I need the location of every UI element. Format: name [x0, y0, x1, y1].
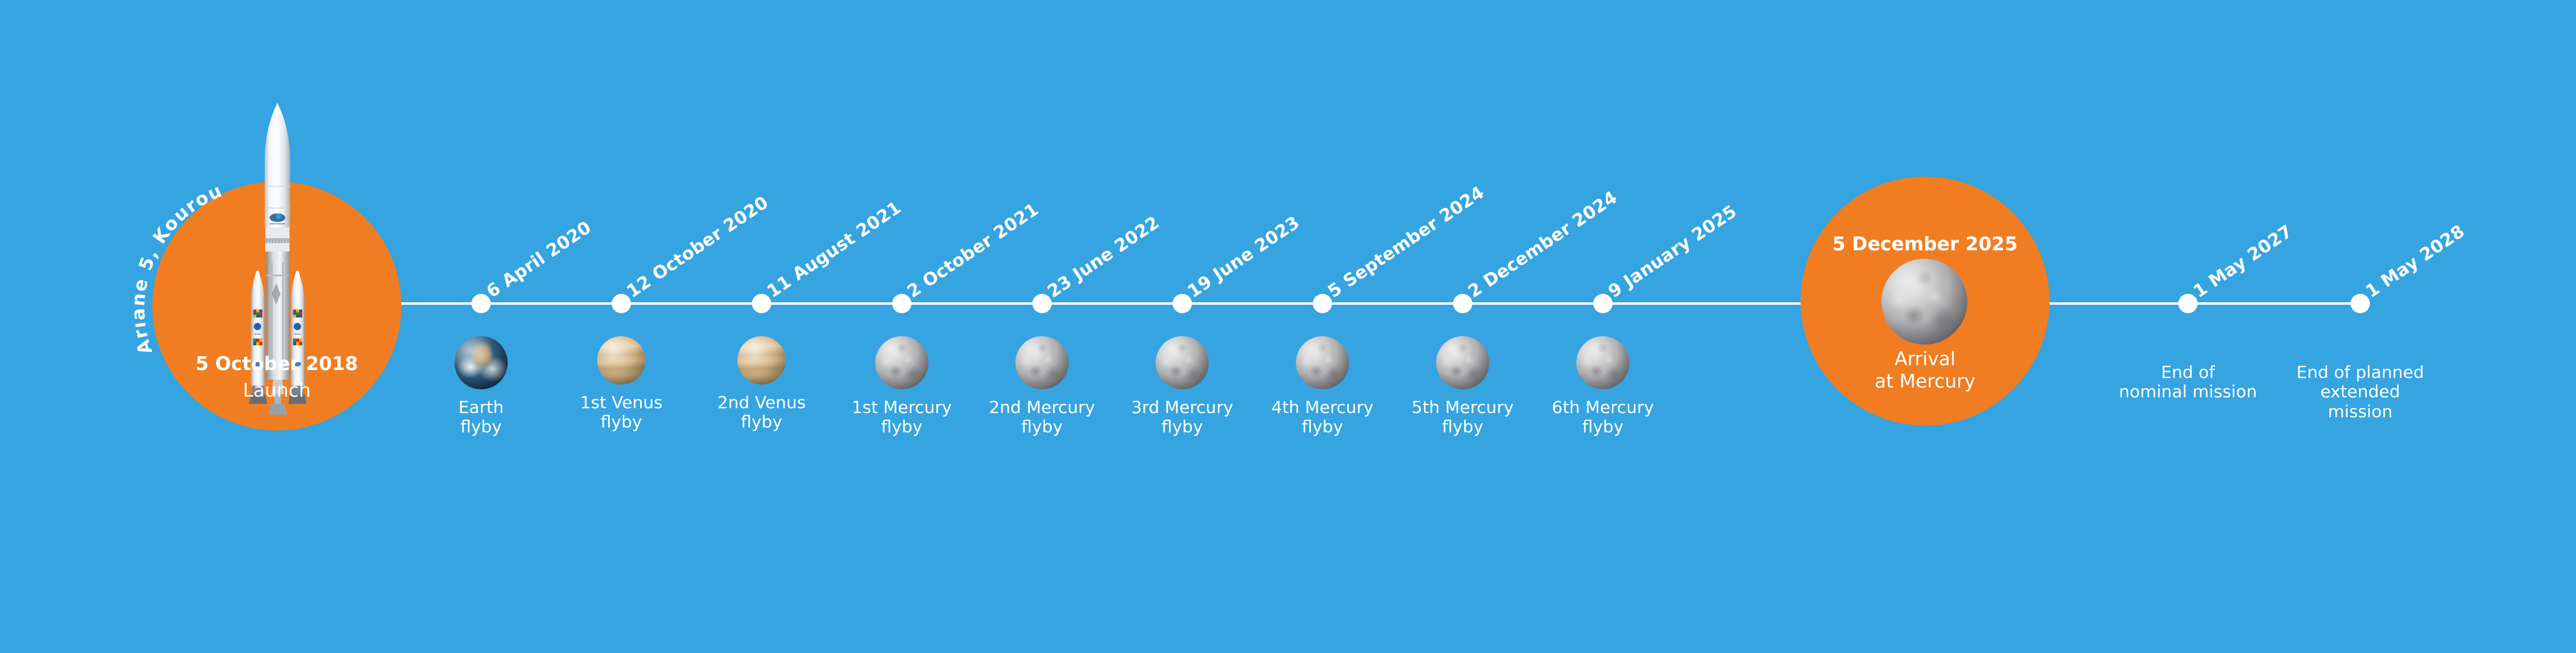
mercury-planet-icon — [1576, 336, 1629, 389]
flyby-label: 6th Mercury flyby — [1530, 398, 1675, 437]
flyby-label: 3rd Mercury flyby — [1110, 398, 1255, 437]
timeline-node-dot[interactable] — [471, 294, 491, 313]
flyby-label: 2nd Venus flyby — [689, 393, 834, 432]
arrival-caption: Arrival at Mercury — [1801, 348, 2050, 392]
flyby-label: 1st Venus flyby — [549, 393, 694, 432]
mercury-planet-icon — [1015, 336, 1069, 389]
timeline-node-dot[interactable] — [1313, 294, 1332, 313]
end-of-mission-label: End of nominal mission — [2097, 363, 2279, 402]
flyby-event[interactable]: 3rd Mercury flyby — [1110, 336, 1255, 437]
event-date-label: 23 June 2022 — [1043, 212, 1163, 302]
arrival-date: 5 December 2025 — [1801, 233, 2050, 255]
event-date-label: 12 October 2020 — [623, 192, 772, 302]
flyby-event[interactable]: Earth flyby — [409, 336, 554, 437]
svg-text:esa: esa — [294, 333, 300, 336]
mercury-planet-icon — [1156, 336, 1209, 389]
mercury-planet-icon — [1882, 259, 1967, 345]
flyby-event[interactable]: 6th Mercury flyby — [1530, 336, 1675, 437]
event-date-label: 11 August 2021 — [763, 197, 904, 302]
flyby-event[interactable]: 1st Venus flyby — [549, 336, 694, 432]
timeline-node-dot[interactable] — [752, 294, 771, 313]
venus-planet-icon — [597, 336, 646, 385]
timeline-node-dot[interactable] — [2351, 294, 2370, 313]
mercury-planet-icon — [875, 336, 928, 389]
svg-text:esa: esa — [254, 333, 261, 336]
launch-caption: Launch — [152, 380, 401, 402]
flyby-event[interactable]: 2nd Mercury flyby — [969, 336, 1115, 437]
mercury-planet-icon — [1436, 336, 1489, 389]
earth-planet-icon — [455, 336, 508, 389]
flyby-label: 2nd Mercury flyby — [969, 398, 1115, 437]
flyby-event[interactable]: 1st Mercury flyby — [829, 336, 974, 437]
timeline-node-dot[interactable] — [612, 294, 631, 313]
timeline-node-dot[interactable] — [2178, 294, 2198, 313]
event-date-label: 2 October 2021 — [903, 199, 1042, 302]
flyby-event[interactable]: 4th Mercury flyby — [1250, 336, 1395, 437]
timeline-node-dot[interactable] — [1173, 294, 1192, 313]
ariane-5-rocket-icon: esa esa — [241, 102, 314, 428]
event-date-label: 2 December 2024 — [1464, 187, 1620, 302]
timeline-node-dot[interactable] — [1453, 294, 1472, 313]
mercury-planet-icon — [1296, 336, 1349, 389]
timeline-node-dot[interactable] — [1593, 294, 1613, 313]
flyby-label: 4th Mercury flyby — [1250, 398, 1395, 437]
event-date-label: 5 September 2024 — [1324, 182, 1487, 302]
flyby-label: Earth flyby — [409, 398, 554, 437]
end-of-mission-label: End of planned extended mission — [2270, 363, 2451, 421]
flyby-label: 1st Mercury flyby — [829, 398, 974, 437]
flyby-event[interactable]: 5th Mercury flyby — [1390, 336, 1535, 437]
event-date-label: 9 January 2025 — [1604, 201, 1740, 302]
event-date-label: 1 May 2027 — [2189, 221, 2296, 302]
launch-date: 5 October 2018 — [152, 353, 401, 375]
timeline-node-dot[interactable] — [1032, 294, 1052, 313]
event-date-label: 19 June 2023 — [1183, 212, 1303, 302]
timeline-axis — [399, 302, 2360, 305]
mission-timeline-infographic: Ariane 5, Kourou — [0, 0, 2576, 653]
venus-planet-icon — [737, 336, 786, 385]
event-date-label: 6 April 2020 — [482, 217, 595, 302]
flyby-label: 5th Mercury flyby — [1390, 398, 1535, 437]
event-date-label: 1 May 2028 — [2361, 221, 2468, 302]
timeline-node-dot[interactable] — [892, 294, 911, 313]
flyby-event[interactable]: 2nd Venus flyby — [689, 336, 834, 432]
